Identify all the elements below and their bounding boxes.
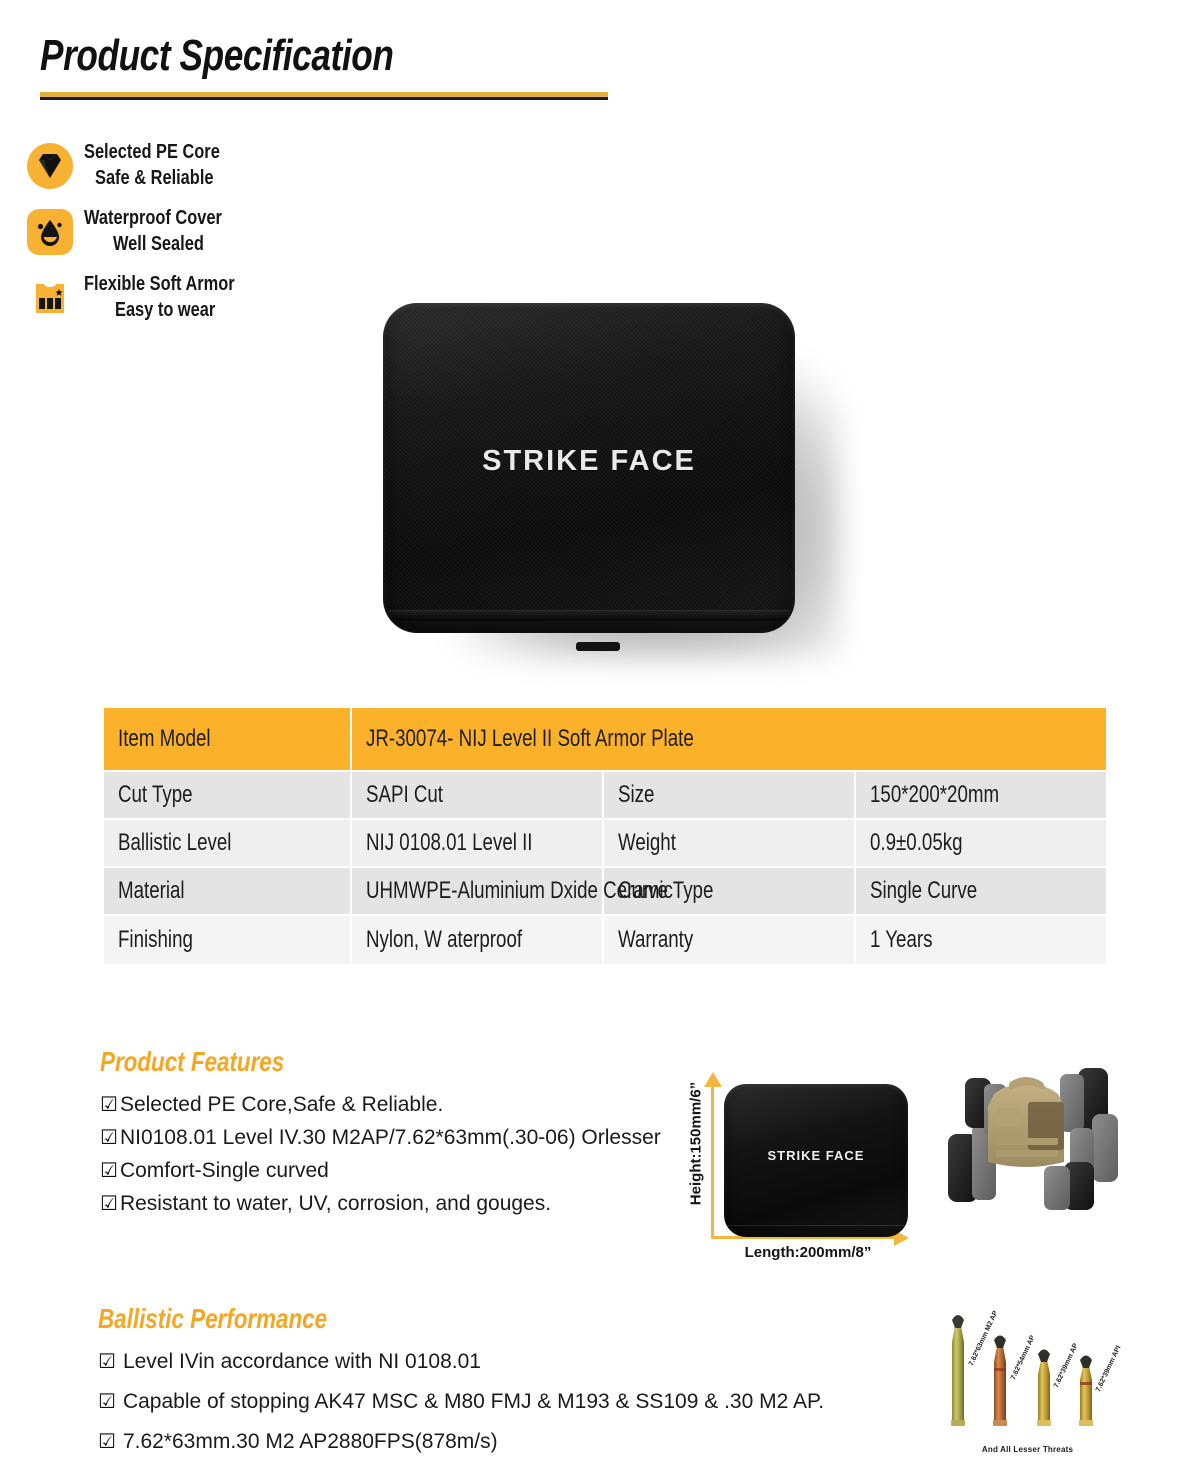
- list-item: ☑ Capable of stopping AK47 MSC & M80 FMJ…: [98, 1391, 824, 1412]
- highlight-text: Waterproof Cover Well Sealed: [84, 206, 252, 257]
- checkbox-icon: ☑: [100, 1193, 118, 1213]
- list-item: ☑ Selected PE Core,Safe & Reliable.: [100, 1094, 661, 1115]
- checkbox-icon: ☑: [98, 1351, 116, 1371]
- highlight-text: Selected PE Core Safe & Reliable: [84, 140, 250, 191]
- header-value-cell: JR-30074- NIJ Level II Soft Armor Plate: [351, 707, 1107, 771]
- table-row: Ballistic Level NIJ 0108.01 Level II Wei…: [103, 819, 1107, 867]
- row-value-2: Single Curve: [855, 867, 1107, 915]
- product-features-list: ☑ Selected PE Core,Safe & Reliable. ☑ NI…: [100, 1094, 661, 1214]
- droplet-icon: [27, 209, 73, 255]
- highlight-text: Flexible Soft Armor Easy to wear: [84, 272, 268, 323]
- gem-icon: [27, 143, 73, 189]
- row-key-2: Size: [603, 771, 855, 819]
- list-item: ☑ 7.62*63mm.30 M2 AP2880FPS(878m/s): [98, 1431, 824, 1452]
- hero-plate-label: STRIKE FACE: [383, 445, 795, 478]
- list-item-label: Comfort-Single curved: [120, 1160, 329, 1181]
- row-key-2: Curve Type: [603, 867, 855, 915]
- table-row: Material UHMWPE-Aluminium Dxide Ceramic …: [103, 867, 1107, 915]
- ammo-footer-note: And All Lesser Threats: [935, 1445, 1120, 1454]
- specification-table: Item Model JR-30074- NIJ Level II Soft A…: [102, 706, 1108, 966]
- arrow-up-icon: [704, 1072, 722, 1087]
- hero-plate-tab: [576, 642, 620, 651]
- list-item: ☑ Resistant to water, UV, corrosion, and…: [100, 1193, 661, 1214]
- checkbox-icon: ☑: [98, 1391, 116, 1411]
- dimension-diagram: STRIKE FACE Height:150mm/6” Length:200mm…: [668, 1063, 918, 1263]
- armor-plate-front: STRIKE FACE: [383, 303, 795, 633]
- checkbox-icon: ☑: [100, 1127, 118, 1147]
- header-key-cell: Item Model: [103, 707, 351, 771]
- row-key-2: Weight: [603, 819, 855, 867]
- dimension-plate-seam: [728, 1225, 904, 1231]
- list-item-label: Level IVin accordance with NI 0108.01: [123, 1351, 481, 1372]
- page-title-block: Product Specification: [40, 34, 640, 78]
- ballistic-performance-section: Ballistic Performance ☑ Level IVin accor…: [98, 1303, 824, 1471]
- checkbox-icon: ☑: [100, 1160, 118, 1180]
- ballistic-performance-heading: Ballistic Performance: [98, 1303, 824, 1335]
- row-key-1: Finishing: [103, 915, 351, 965]
- ammunition-image: 7.62*63mm M2 AP 7.62*54mm AP 7.62*39mm A…: [935, 1312, 1120, 1470]
- list-item-label: Resistant to water, UV, corrosion, and g…: [120, 1193, 551, 1214]
- list-item: ☑ Level IVin accordance with NI 0108.01: [98, 1351, 824, 1372]
- length-label: Length:200mm/8”: [710, 1244, 906, 1261]
- list-item: ☑ NI0108.01 Level IV.30 M2AP/7.62*63mm(.…: [100, 1127, 661, 1148]
- list-item-label: 7.62*63mm.30 M2 AP2880FPS(878m/s): [123, 1431, 498, 1452]
- dimension-plate-label: STRIKE FACE: [724, 1148, 908, 1163]
- row-key-1: Cut Type: [103, 771, 351, 819]
- table-header-row: Item Model JR-30074- NIJ Level II Soft A…: [103, 707, 1107, 771]
- row-value-1: Nylon, W aterproof: [351, 915, 603, 965]
- list-item-label: NI0108.01 Level IV.30 M2AP/7.62*63mm(.30…: [120, 1127, 661, 1148]
- ballistic-performance-list: ☑ Level IVin accordance with NI 0108.01 …: [98, 1351, 824, 1452]
- checkbox-icon: ☑: [100, 1094, 118, 1114]
- row-value-2: 0.9±0.05kg: [855, 819, 1107, 867]
- row-value-2: 150*200*20mm: [855, 771, 1107, 819]
- dimension-plate-image: STRIKE FACE: [724, 1084, 908, 1237]
- row-value-1: NIJ 0108.01 Level II: [351, 819, 603, 867]
- product-features-heading: Product Features: [100, 1046, 661, 1078]
- checkbox-icon: ☑: [98, 1431, 116, 1451]
- title-underline: [40, 92, 608, 100]
- row-key-1: Ballistic Level: [103, 819, 351, 867]
- list-item-label: Selected PE Core,Safe & Reliable.: [120, 1094, 443, 1115]
- highlight-item: Selected PE Core Safe & Reliable: [27, 133, 327, 199]
- highlight-list: Selected PE Core Safe & Reliable Waterpr…: [27, 133, 327, 331]
- row-key-1: Material: [103, 867, 351, 915]
- title-underline-dark: [40, 97, 608, 100]
- highlight-item: Waterproof Cover Well Sealed: [27, 199, 327, 265]
- row-key-2: Warranty: [603, 915, 855, 965]
- height-axis-line: [711, 1087, 714, 1239]
- vest-icon: [27, 275, 73, 321]
- row-value-2: 1 Years: [855, 915, 1107, 965]
- highlight-item: Flexible Soft Armor Easy to wear: [27, 265, 327, 331]
- page-title: Product Specification: [40, 34, 640, 78]
- list-item: ☑ Comfort-Single curved: [100, 1160, 661, 1181]
- table-row: Cut Type SAPI Cut Size 150*200*20mm: [103, 771, 1107, 819]
- row-value-1: UHMWPE-Aluminium Dxide Ceramic: [351, 867, 603, 915]
- row-value-1: SAPI Cut: [351, 771, 603, 819]
- hero-plate-seam: [388, 610, 790, 621]
- table-row: Finishing Nylon, W aterproof Warranty 1 …: [103, 915, 1107, 965]
- product-features-section: Product Features ☑ Selected PE Core,Safe…: [100, 1046, 661, 1226]
- list-item-label: Capable of stopping AK47 MSC & M80 FMJ &…: [123, 1391, 824, 1412]
- plate-carrier-image: [932, 1062, 1122, 1247]
- hero-product-image: STRIKE FACE: [383, 303, 813, 648]
- height-label: Height:150mm/6”: [688, 1074, 705, 1214]
